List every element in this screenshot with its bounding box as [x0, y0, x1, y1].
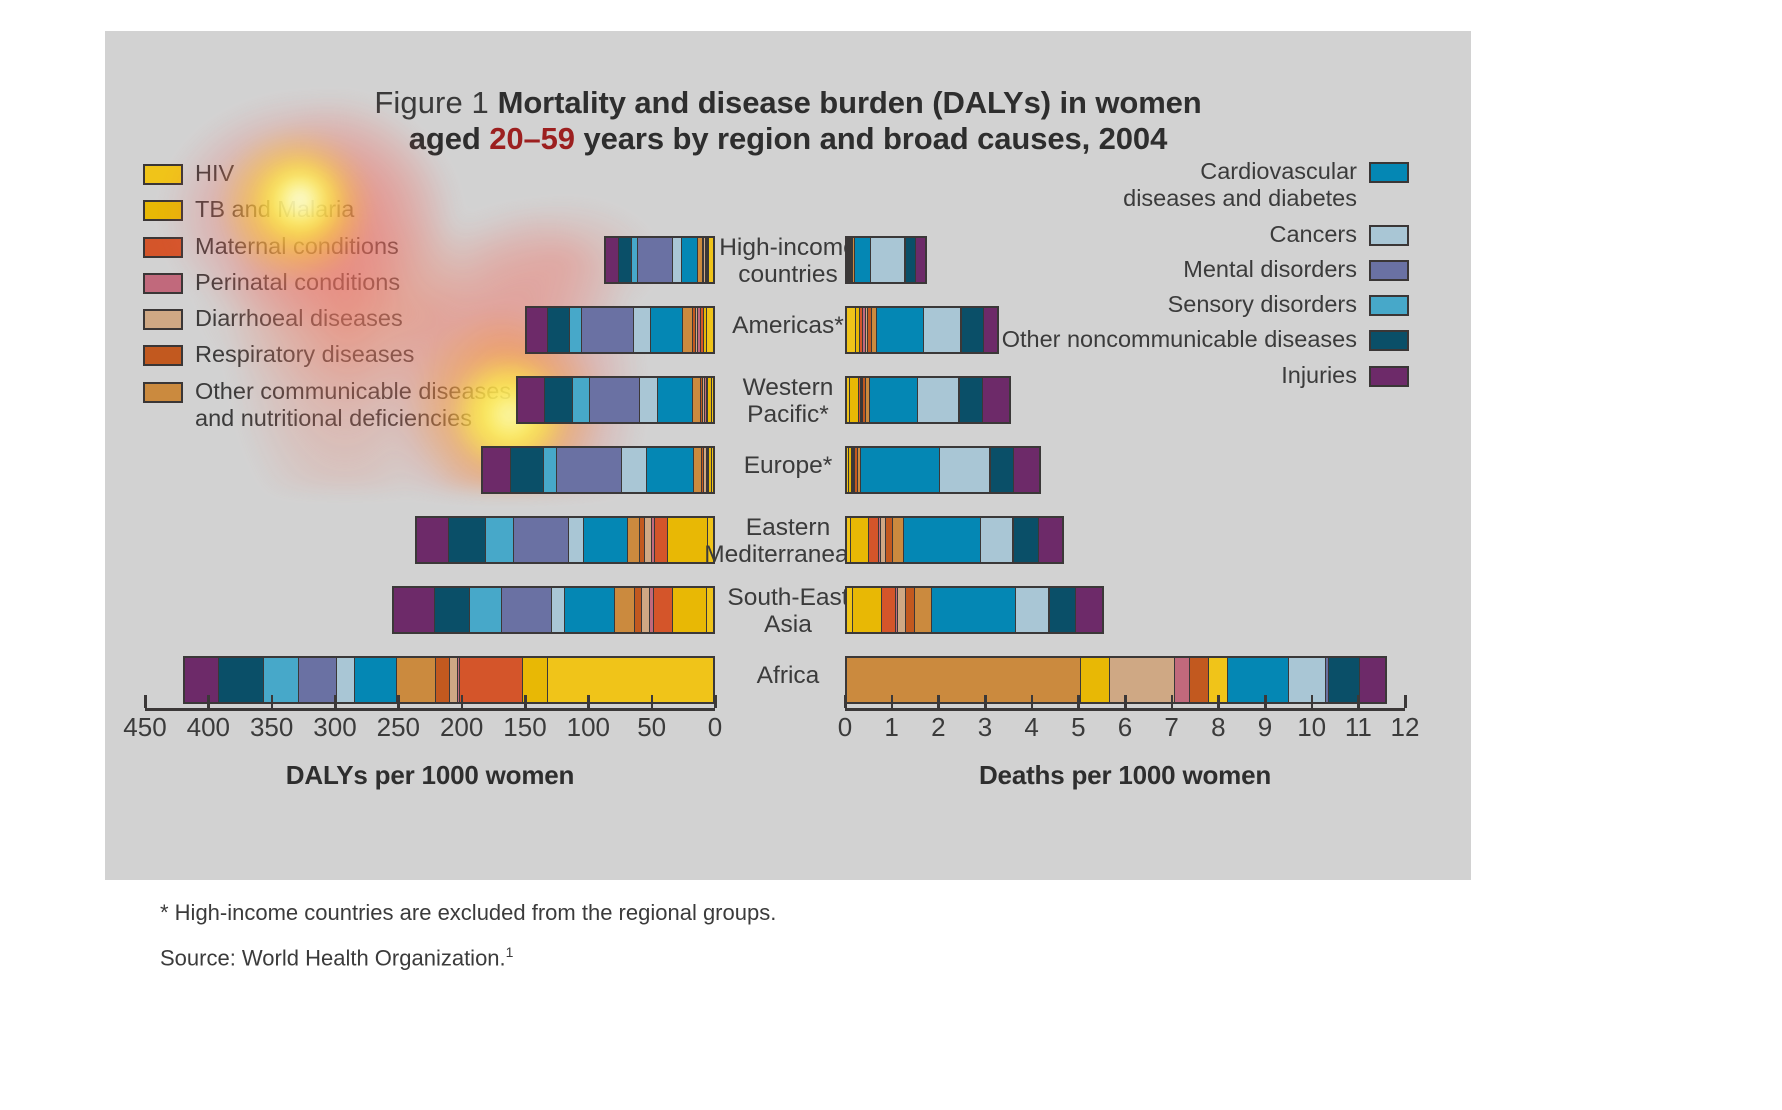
bar-segment: [960, 378, 984, 422]
bar-segment: [514, 518, 569, 562]
right-axis-tick: [891, 695, 894, 708]
deaths-bar[interactable]: [845, 376, 1011, 424]
source-text: Source: World Health Organization.: [160, 945, 506, 970]
bar-segment: [870, 378, 918, 422]
legend-left-swatch-icon: [143, 200, 183, 221]
left-axis-tick-label: 100: [567, 712, 610, 743]
bar-segment: [918, 378, 959, 422]
left-axis-tick: [144, 695, 147, 708]
bar-segment: [502, 588, 552, 632]
bar-segment: [1014, 448, 1039, 492]
bar-segment: [527, 308, 548, 352]
bar-segment: [893, 518, 904, 562]
left-axis-tick: [461, 695, 464, 708]
deaths-bar[interactable]: [845, 516, 1064, 564]
bar-segment: [904, 518, 981, 562]
bar-segment: [1228, 658, 1289, 702]
bar-segment: [1360, 658, 1385, 702]
bar-segment: [544, 448, 558, 492]
bar-segment: [337, 658, 355, 702]
chart-row: WesternPacific*: [105, 376, 1471, 424]
right-axis-tick-label: 2: [931, 712, 945, 743]
right-axis-tick: [1357, 695, 1360, 708]
right-axis-tick: [844, 695, 847, 708]
right-axis-tick: [1404, 695, 1407, 708]
bar-segment: [869, 518, 879, 562]
bar-segment: [569, 518, 584, 562]
legend-left-item[interactable]: HIV: [143, 160, 573, 187]
bar-segment: [435, 588, 470, 632]
left-axis-tick-label: 400: [187, 712, 230, 743]
bar-segment: [850, 378, 859, 422]
bar-segment: [634, 308, 651, 352]
bar-segment: [584, 518, 628, 562]
bar-segment: [470, 588, 501, 632]
right-axis-tick: [1217, 695, 1220, 708]
bar-segment: [991, 448, 1014, 492]
bar-segment: [847, 308, 856, 352]
left-axis-line: [145, 708, 715, 711]
bar-segment: [924, 308, 961, 352]
bar-segment: [450, 658, 458, 702]
legend-left-item[interactable]: TB and Malaria: [143, 196, 573, 223]
bar-segment: [483, 448, 512, 492]
bar-segment: [606, 238, 619, 282]
bar-segment: [449, 518, 485, 562]
left-axis-tick-label: 50: [637, 712, 666, 743]
left-axis-tick-label: 300: [313, 712, 356, 743]
legend-left-swatch-icon: [143, 164, 183, 185]
chart-row: Europe*: [105, 446, 1471, 494]
left-axis-tick: [207, 695, 210, 708]
chart-row: Americas*: [105, 306, 1471, 354]
left-axis-tick: [271, 695, 274, 708]
legend-right-label: Cardiovasculardiseases and diabetes: [1123, 158, 1357, 213]
bar-segment: [1039, 518, 1062, 562]
left-axis-title: DALYs per 1000 women: [286, 760, 574, 791]
bar-segment: [932, 588, 1016, 632]
bar-segment: [264, 658, 299, 702]
left-axis-tick: [524, 695, 527, 708]
bar-segment: [582, 308, 634, 352]
bar-segment: [640, 378, 659, 422]
bar-segment: [1329, 658, 1360, 702]
bar-segment: [1016, 588, 1049, 632]
figure-stage: Figure 1 Mortality and disease burden (D…: [0, 0, 1782, 1110]
bar-segment: [882, 588, 896, 632]
bar-segment: [557, 448, 622, 492]
figure-title-agerange: 20–59: [489, 121, 575, 156]
bar-segment: [219, 658, 264, 702]
bar-segment: [394, 588, 435, 632]
bar-segment: [861, 448, 940, 492]
deaths-bar[interactable]: [845, 236, 927, 284]
right-axis-tick: [1077, 695, 1080, 708]
bar-segment: [460, 658, 523, 702]
left-axis-tick: [334, 695, 337, 708]
right-axis-tick: [1031, 695, 1034, 708]
figure-notes: * High-income countries are excluded fro…: [160, 900, 776, 989]
left-axis-tick-label: 250: [377, 712, 420, 743]
bar-segment: [1190, 658, 1209, 702]
right-axis-tick-label: 6: [1118, 712, 1132, 743]
right-axis-tick: [1264, 695, 1267, 708]
figure-number: Figure 1: [374, 85, 489, 120]
bar-segment: [871, 238, 905, 282]
bar-segment: [565, 588, 615, 632]
bar-segment: [855, 238, 871, 282]
bar-segment: [619, 238, 632, 282]
bar-segment: [397, 658, 436, 702]
dalys-bar[interactable]: [183, 656, 715, 704]
chart-row: High-incomecountries: [105, 236, 1471, 284]
bar-segment: [1076, 588, 1102, 632]
bar-segment: [1050, 588, 1076, 632]
bar-segment: [1014, 518, 1039, 562]
right-axis-tick-label: 4: [1024, 712, 1038, 743]
right-axis-tick-label: 8: [1211, 712, 1225, 743]
figure-title-line1: Mortality and disease burden (DALYs) in …: [498, 85, 1202, 120]
bar-segment: [1175, 658, 1189, 702]
bidirectional-stacked-bar-chart: High-incomecountriesAmericas*WesternPaci…: [105, 230, 1471, 700]
right-axis-tick-label: 10: [1297, 712, 1326, 743]
legend-left-label: HIV: [195, 160, 234, 187]
left-axis-tick: [651, 695, 654, 708]
bar-segment: [1289, 658, 1326, 702]
bar-segment: [511, 448, 543, 492]
bar-segment: [518, 378, 545, 422]
left-axis-tick: [714, 695, 717, 708]
left-axis-tick-label: 450: [123, 712, 166, 743]
bar-segment: [642, 588, 651, 632]
bar-segment: [573, 378, 590, 422]
bar-segment: [545, 378, 572, 422]
bar-segment: [981, 518, 1013, 562]
bar-segment: [436, 658, 450, 702]
bar-segment: [906, 238, 916, 282]
footnote-high-income: * High-income countries are excluded fro…: [160, 900, 776, 926]
left-axis-tick: [397, 695, 400, 708]
left-axis-tick-label: 0: [708, 712, 722, 743]
bar-segment: [355, 658, 398, 702]
bar-segment: [906, 588, 915, 632]
right-axis-tick-label: 1: [884, 712, 898, 743]
bar-segment: [886, 518, 893, 562]
source-note: Source: World Health Organization.1: [160, 944, 776, 971]
right-axis-tick: [984, 695, 987, 708]
bar-segment: [940, 448, 990, 492]
left-axis-tick-label: 350: [250, 712, 293, 743]
deaths-bar[interactable]: [845, 586, 1104, 634]
bar-segment: [486, 518, 515, 562]
bar-segment: [1110, 658, 1176, 702]
bar-segment: [1081, 658, 1110, 702]
right-axis-tick-label: 5: [1071, 712, 1085, 743]
right-axis-tick-label: 9: [1258, 712, 1272, 743]
bar-segment: [570, 308, 581, 352]
chart-row: EasternMediterranean*: [105, 516, 1471, 564]
bar-segment: [552, 588, 566, 632]
page-title: Figure 1 Mortality and disease burden (D…: [105, 85, 1471, 157]
left-axis-tick-label: 200: [440, 712, 483, 743]
bar-segment: [898, 588, 906, 632]
left-axis-tick-label: 150: [503, 712, 546, 743]
bar-segment: [417, 518, 449, 562]
right-axis-tick-label: 3: [978, 712, 992, 743]
bar-segment: [847, 658, 1081, 702]
right-axis-tick-label: 12: [1391, 712, 1420, 743]
source-superscript: 1: [506, 944, 514, 960]
deaths-bar[interactable]: [845, 656, 1387, 704]
bar-segment: [984, 308, 997, 352]
bar-segment: [983, 378, 1008, 422]
bar-segment: [185, 658, 219, 702]
right-axis-tick-label: 0: [838, 712, 852, 743]
bar-segment: [628, 518, 640, 562]
figure-title-line2c: years by region and broad causes, 2004: [575, 121, 1167, 156]
bar-segment: [622, 448, 647, 492]
bar-segment: [615, 588, 635, 632]
bar-segment: [915, 588, 932, 632]
right-axis-tick: [1171, 695, 1174, 708]
right-axis-tick-label: 11: [1345, 712, 1372, 743]
bar-segment: [851, 518, 869, 562]
right-axis-tick: [1311, 695, 1314, 708]
bar-segment: [916, 238, 925, 282]
left-axis-tick: [587, 695, 590, 708]
right-axis-tick: [937, 695, 940, 708]
bar-segment: [548, 308, 570, 352]
bar-segment: [853, 588, 882, 632]
chart-row: South-EastAsia: [105, 586, 1471, 634]
legend-left-label: TB and Malaria: [195, 196, 354, 223]
right-axis-title: Deaths per 1000 women: [979, 760, 1271, 791]
legend-right-swatch-icon: [1369, 162, 1409, 183]
bar-segment: [523, 658, 548, 702]
bar-segment: [962, 308, 984, 352]
bar-segment: [299, 658, 337, 702]
deaths-bar[interactable]: [845, 446, 1041, 494]
bar-segment: [877, 308, 923, 352]
right-axis-line: [845, 708, 1405, 711]
deaths-bar[interactable]: [845, 306, 999, 354]
right-axis-tick-label: 7: [1164, 712, 1178, 743]
bar-segment: [590, 378, 640, 422]
figure-title-aged: aged: [409, 121, 489, 156]
right-axis-tick: [1124, 695, 1127, 708]
legend-right-item[interactable]: Cardiovasculardiseases and diabetes: [969, 158, 1409, 213]
